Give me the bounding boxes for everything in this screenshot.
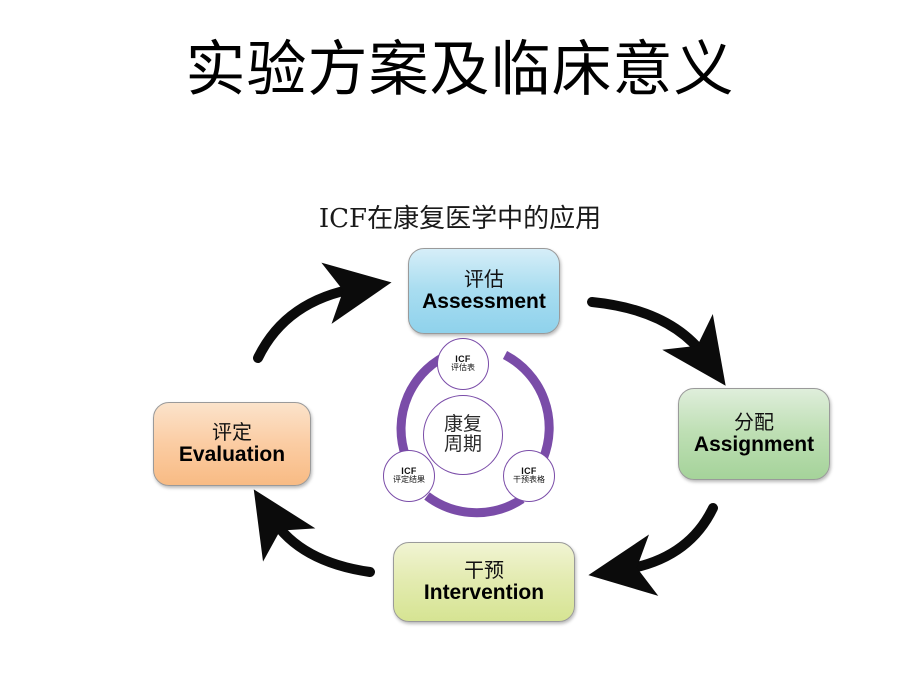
cycle-diagram: ICF 评估表 ICF 干预表格 ICF 评定结果 康复周期 评估 Assess…: [0, 0, 920, 690]
ring-nodes-group: ICF 评估表 ICF 干预表格 ICF 评定结果 康复周期: [375, 338, 585, 518]
ring-center-circle: 康复周期: [423, 395, 503, 475]
stage-label-en: Assessment: [416, 290, 552, 314]
ring-center-label: 康复周期: [441, 415, 485, 455]
stage-box-evaluation[interactable]: 评定 Evaluation: [153, 402, 311, 486]
ring-node-label: 干预表格: [513, 476, 545, 485]
ring-node-label: 评定结果: [393, 476, 425, 485]
stage-label-en: Evaluation: [173, 443, 291, 467]
stage-box-assessment[interactable]: 评估 Assessment: [408, 248, 560, 334]
stage-box-intervention[interactable]: 干预 Intervention: [393, 542, 575, 622]
ring-node-icf-intervention-form[interactable]: ICF 干预表格: [503, 450, 555, 502]
stage-label-en: Intervention: [418, 581, 550, 605]
stage-label-zh: 评定: [212, 421, 252, 443]
ring-node-icf-assessment-form[interactable]: ICF 评估表: [437, 338, 489, 390]
stage-label-zh: 干预: [464, 559, 504, 581]
stage-label-en: Assignment: [688, 433, 820, 457]
slide-canvas: 实验方案及临床意义 ICF在康复医学中的应用: [0, 0, 920, 690]
ring-node-label: 评估表: [451, 364, 475, 373]
stage-box-assignment[interactable]: 分配 Assignment: [678, 388, 830, 480]
ring-node-icf-evaluation-result[interactable]: ICF 评定结果: [383, 450, 435, 502]
stage-label-zh: 评估: [464, 268, 504, 290]
stage-label-zh: 分配: [734, 411, 774, 433]
